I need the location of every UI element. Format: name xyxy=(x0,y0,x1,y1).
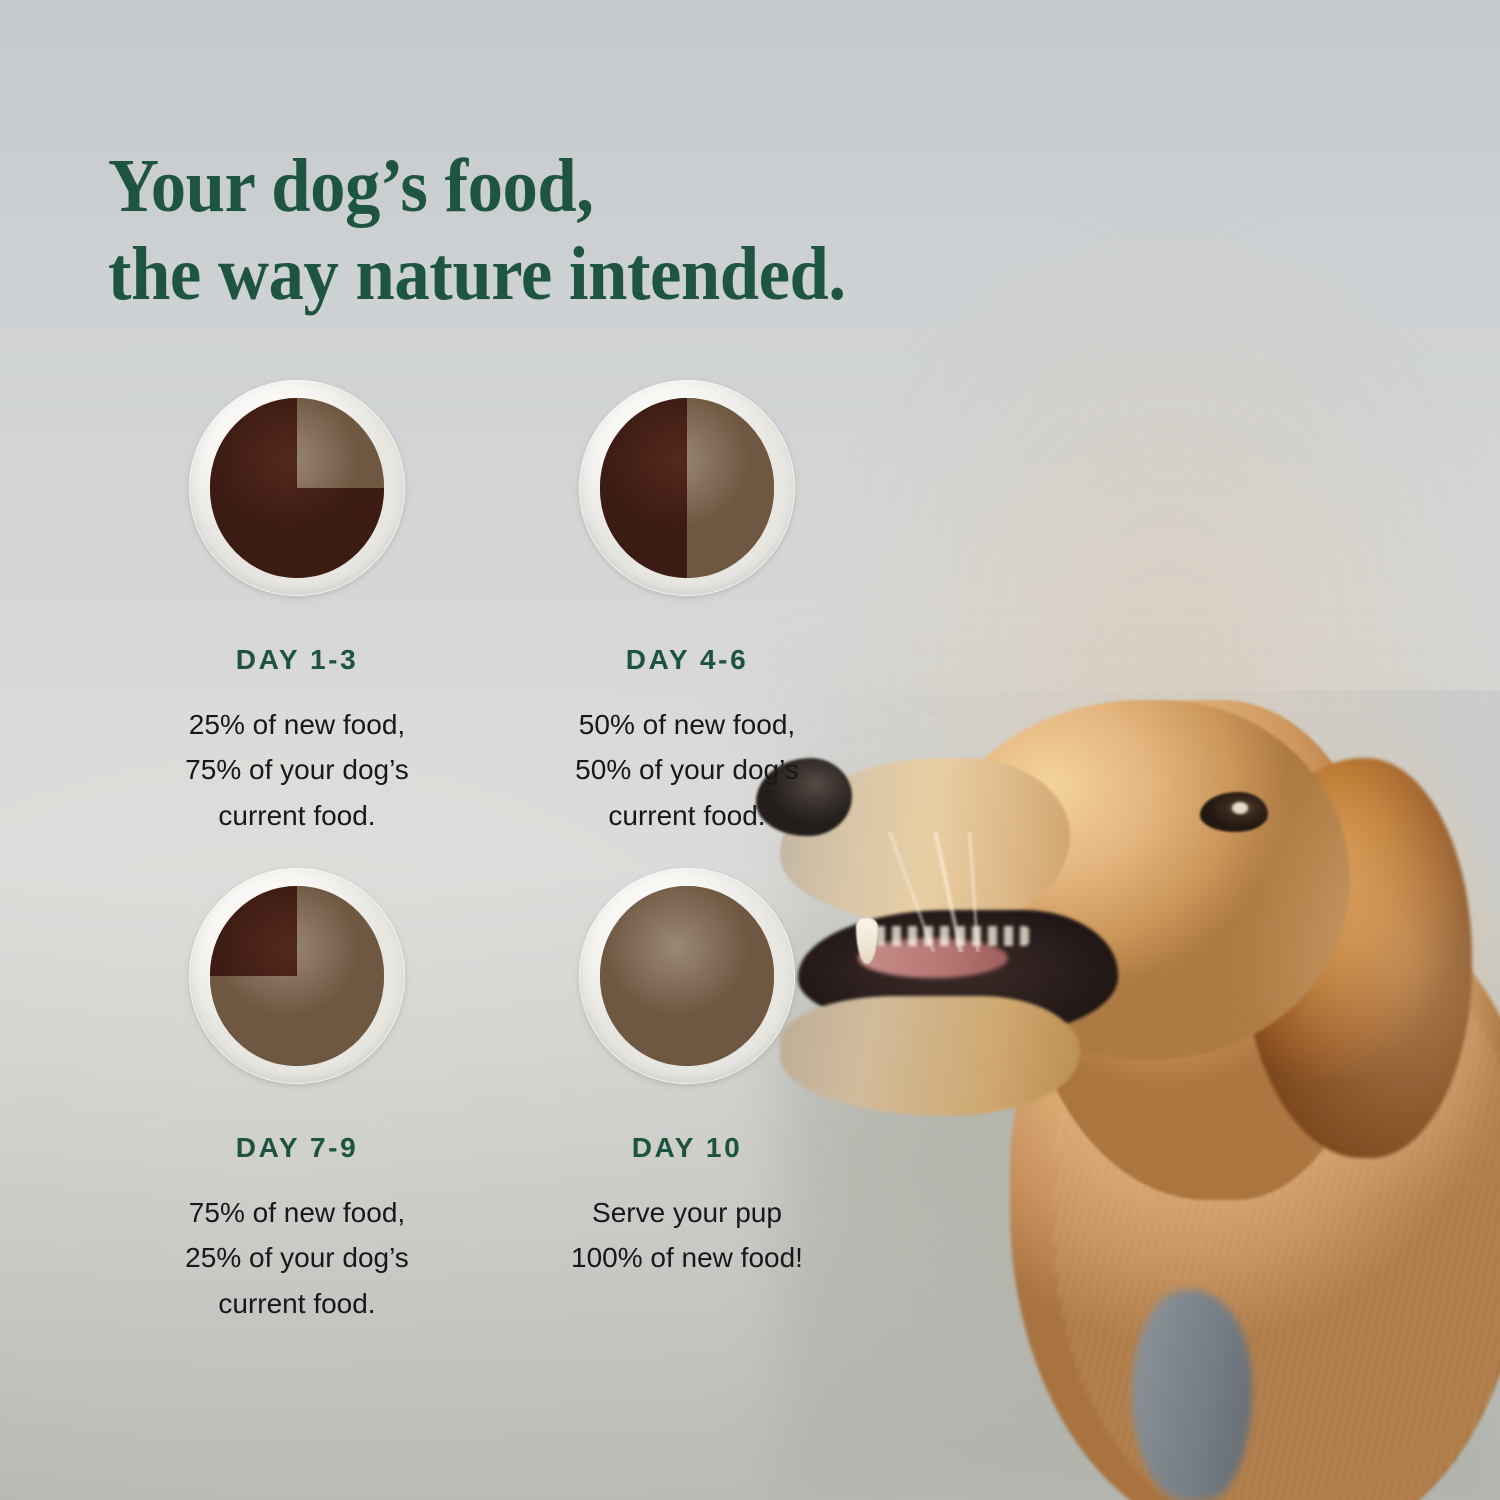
dog-bowl-icon-day-7-9 xyxy=(181,860,413,1092)
bowl-body xyxy=(579,868,795,1084)
step-label-day-7-9: DAY 7-9 xyxy=(236,1132,359,1164)
step-description-day-1-3: 25% of new food, 75% of your dog’s curre… xyxy=(185,702,409,838)
transition-step-day-1-3: DAY 1-3 25% of new food, 75% of your dog… xyxy=(102,372,492,838)
transition-step-day-4-6: DAY 4-6 50% of new food, 50% of your dog… xyxy=(492,372,882,838)
bowl-body xyxy=(579,380,795,596)
transition-step-day-7-9: DAY 7-9 75% of new food, 25% of your dog… xyxy=(102,838,492,1326)
step-label-day-10: DAY 10 xyxy=(632,1132,743,1164)
step-description-day-4-6: 50% of new food, 50% of your dog’s curre… xyxy=(575,702,799,838)
new-food-kibble xyxy=(210,398,385,577)
dog-bowl-icon-day-10 xyxy=(571,860,803,1092)
transition-steps-grid: DAY 1-3 25% of new food, 75% of your dog… xyxy=(102,372,882,1326)
dog-bowl-icon-day-4-6 xyxy=(571,372,803,604)
bowl-body xyxy=(189,868,405,1084)
bowl-interior xyxy=(210,886,385,1065)
new-food-kibble xyxy=(600,398,775,577)
new-food-kibble xyxy=(600,886,775,1065)
steps-row-1: DAY 1-3 25% of new food, 75% of your dog… xyxy=(102,372,882,838)
bowl-interior xyxy=(600,886,775,1065)
new-food-kibble xyxy=(210,886,385,1065)
dog-bowl-icon-day-1-3 xyxy=(181,372,413,604)
steps-row-2: DAY 7-9 75% of new food, 25% of your dog… xyxy=(102,838,882,1326)
transition-step-day-10: DAY 10 Serve your pup 100% of new food! xyxy=(492,838,882,1326)
step-description-day-10: Serve your pup 100% of new food! xyxy=(571,1190,803,1281)
bowl-body xyxy=(189,380,405,596)
step-label-day-4-6: DAY 4-6 xyxy=(626,644,749,676)
bowl-interior xyxy=(600,398,775,577)
step-description-day-7-9: 75% of new food, 25% of your dog’s curre… xyxy=(185,1190,409,1326)
page-title: Your dog’s food, the way nature intended… xyxy=(108,142,1057,318)
step-label-day-1-3: DAY 1-3 xyxy=(236,644,359,676)
bowl-interior xyxy=(210,398,385,577)
transition-guide-graphic: Your dog’s food, the way nature intended… xyxy=(0,0,1500,1500)
